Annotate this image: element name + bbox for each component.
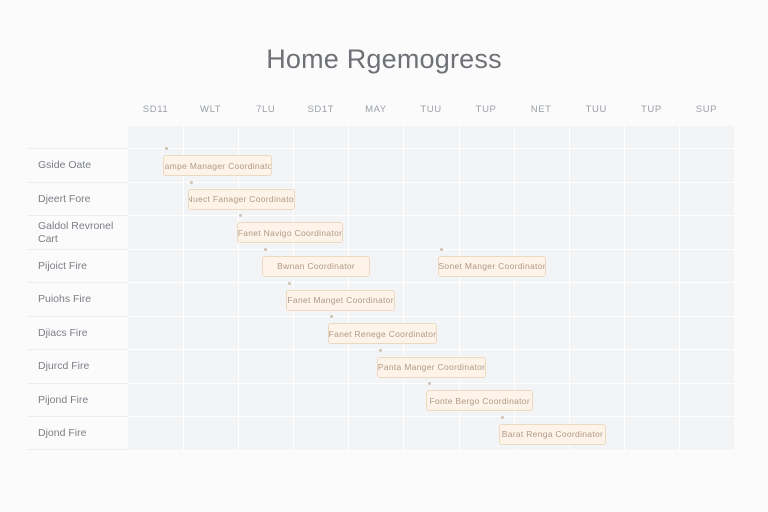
row-label: Pijoict Fire: [28, 249, 128, 283]
bar-start-marker: [379, 349, 382, 352]
bar-start-marker: [264, 248, 267, 251]
horizontal-gridline: [128, 249, 734, 250]
column-header: SD11: [143, 104, 168, 115]
row-label: Djiacs Fire: [28, 316, 128, 350]
plot-area: Sampe Manager CoordinatorNuect Fanager C…: [128, 126, 734, 450]
vertical-gridline: [403, 126, 404, 450]
horizontal-gridline: [128, 416, 734, 417]
column-header: TUP: [641, 104, 662, 115]
bar-start-marker: [330, 315, 333, 318]
vertical-gridline: [569, 126, 570, 450]
bar-start-marker: [501, 416, 504, 419]
gantt-bar[interactable]: Fanet Navigo Coordinator: [237, 222, 343, 243]
bar-start-marker: [239, 214, 242, 217]
gantt-bar[interactable]: Fanet Renege Coordinator: [328, 323, 437, 344]
bar-start-marker: [428, 382, 431, 385]
vertical-gridline: [624, 126, 625, 450]
bar-start-marker: [288, 282, 291, 285]
vertical-gridline: [348, 126, 349, 450]
gantt-chart: Home Rgemogress SD11WLT7LUSD1TMAYTUUTUPN…: [0, 0, 768, 512]
horizontal-gridline: [128, 148, 734, 149]
chart-title: Home Rgemogress: [0, 44, 768, 75]
gantt-bar[interactable]: Fanet Manget Coordinator: [286, 290, 395, 311]
row-label: Gside Oate: [28, 148, 128, 182]
vertical-gridline: [293, 126, 294, 450]
row-label-column: Gside OateDjeert ForeGaldol Revronel Car…: [28, 148, 128, 450]
column-header: MAY: [365, 104, 387, 115]
gantt-bar[interactable]: Barat Renga Coordinator: [499, 424, 606, 445]
horizontal-gridline: [128, 282, 734, 283]
gantt-bar[interactable]: Sonet Manger Coordinator: [438, 256, 546, 277]
horizontal-gridline: [128, 182, 734, 183]
column-header: 7LU: [256, 104, 275, 115]
row-label: Puiohs Fire: [28, 282, 128, 316]
horizontal-gridline: [128, 316, 734, 317]
gantt-bar[interactable]: Sampe Manager Coordinator: [163, 155, 272, 176]
column-header: NET: [531, 104, 552, 115]
row-label: Djeert Fore: [28, 182, 128, 216]
column-header-band: SD11WLT7LUSD1TMAYTUUTUPNETTUUTUPSUP: [128, 104, 734, 124]
column-header: TUU: [586, 104, 607, 115]
column-header: TUP: [476, 104, 497, 115]
gantt-bar[interactable]: Nuect Fanager Coordinator: [188, 189, 295, 210]
horizontal-gridline: [128, 349, 734, 350]
row-label: Galdol Revronel Cart: [28, 215, 128, 249]
vertical-gridline: [679, 126, 680, 450]
gantt-bar[interactable]: Panta Manger Coordinator: [377, 357, 486, 378]
horizontal-gridline: [128, 450, 734, 451]
gantt-bar[interactable]: Fonte Bergo Coordinator: [426, 390, 533, 411]
column-header: TUU: [420, 104, 441, 115]
row-label: Djurcd Fire: [28, 349, 128, 383]
bar-start-marker: [190, 181, 193, 184]
horizontal-gridline: [128, 215, 734, 216]
row-label: Djond Fire: [28, 416, 128, 450]
gantt-bar[interactable]: Bwnan Coordinator: [262, 256, 369, 277]
column-header: SUP: [696, 104, 717, 115]
bar-start-marker: [440, 248, 443, 251]
bar-start-marker: [165, 147, 168, 150]
column-header: SD1T: [307, 104, 334, 115]
row-label: Pijond Fire: [28, 383, 128, 417]
column-header: WLT: [200, 104, 221, 115]
